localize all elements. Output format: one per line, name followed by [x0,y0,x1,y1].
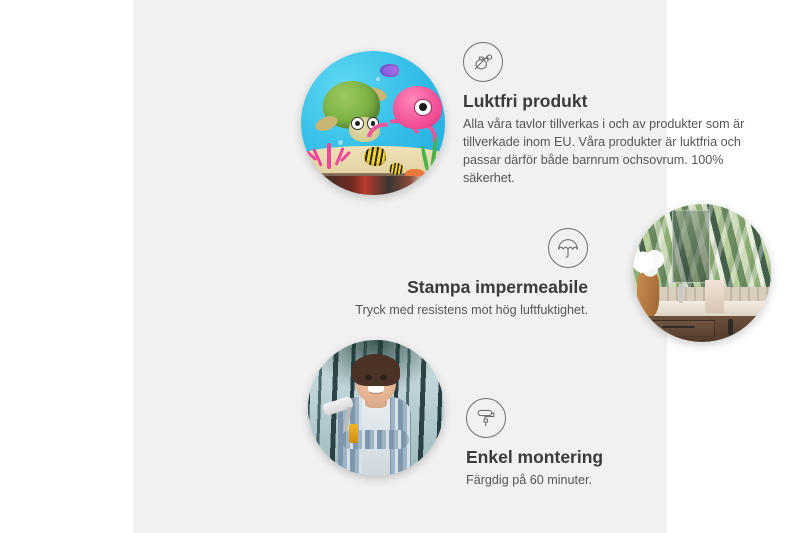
feature-easy-mounting: Enkel montering Färgdig på 60 minuter. [466,398,716,490]
cabinet-handle [728,319,733,335]
soap-dispenser [705,280,724,313]
coral-icon [308,132,356,169]
umbrella-icon [548,228,588,268]
woman-hair [352,354,401,387]
no-fragrance-icon [463,42,503,82]
no-fragrance-icon-wrapper [463,42,763,82]
drawer-handle [662,326,695,327]
feature-odour-free: Luktfri produkt Alla våra tavlor tillver… [463,42,763,188]
octopus-eye [414,99,432,117]
bathroom-vanity-circle-image [633,204,771,342]
umbrella-icon-wrapper [343,228,588,268]
woman-smile [368,386,384,394]
feature-water-resistant: Stampa impermeabile Tryck med resistens … [343,228,588,320]
wooden-cabinet [644,316,771,342]
striped-fish-icon [364,147,386,166]
feature-title: Luktfri produkt [463,91,763,111]
faucet [679,284,683,303]
feature-title: Enkel montering [466,447,716,467]
feature-description: Tryck med resistens mot hög luftfuktighe… [343,302,588,320]
foreground-scene-strip [318,176,436,195]
feature-description: Alla våra tavlor tillverkas i och av pro… [463,116,763,188]
yellow-hand-tool [349,424,359,443]
striped-fish-icon [389,163,403,175]
content-panel: Luktfri produkt Alla våra tavlor tillver… [133,0,667,533]
purple-fish-icon [380,64,399,77]
feature-title: Stampa impermeabile [343,277,588,297]
underwater-cartoon-circle-image [301,51,445,195]
cabinet-drawer [652,320,715,336]
paint-roller-icon-wrapper [466,398,716,438]
bathroom-mirror [672,210,710,284]
feature-description: Färgdig på 60 minuter. [466,472,716,490]
paint-roller-icon [466,398,506,438]
product-feature-banner: Luktfri produkt Alla våra tavlor tillver… [0,0,800,533]
flower-vase [637,273,659,317]
white-flowers [633,250,666,278]
woman-paint-roller-circle-image [308,340,444,476]
woman-eye [380,375,387,380]
